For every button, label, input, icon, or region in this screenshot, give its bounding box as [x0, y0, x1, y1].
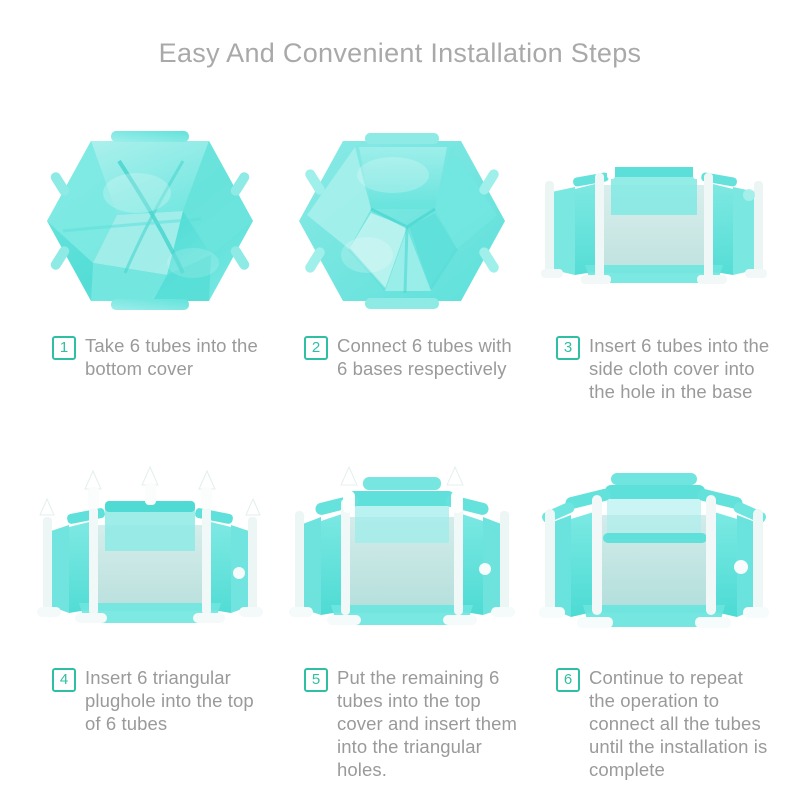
- step-text-4: Insert 6 triangular plughole into the to…: [85, 666, 266, 735]
- step-card-5: 5 Put the remaining 6 tubes into the top…: [276, 454, 528, 784]
- playpen-top-cover-tubes-inserted-icon: [285, 455, 519, 651]
- step-image-6: [528, 454, 780, 652]
- step-caption-2: 2 Connect 6 tubes with 6 bases respectiv…: [276, 320, 528, 380]
- step-number-badge-5: 5: [304, 668, 328, 692]
- playpen-fully-assembled-icon: [537, 455, 771, 651]
- step-number-badge-3: 3: [556, 336, 580, 360]
- step-caption-6: 6 Continue to repeat the operation to co…: [528, 652, 780, 781]
- step-number-badge-1: 1: [52, 336, 76, 360]
- steps-grid: 1 Take 6 tubes into the bottom cover: [24, 122, 780, 784]
- step-text-2: Connect 6 tubes with 6 bases respectivel…: [337, 334, 518, 380]
- step-image-3: [528, 122, 780, 320]
- step-image-1: [24, 122, 276, 320]
- step-text-6: Continue to repeat the operation to conn…: [589, 666, 770, 781]
- step-caption-1: 1 Take 6 tubes into the bottom cover: [24, 320, 276, 380]
- hexagon-bottom-cover-with-tubes-icon: [33, 123, 267, 319]
- hexagon-cover-tubes-connected-to-bases-icon: [285, 123, 519, 319]
- playpen-triangular-plugholes-on-tubes-icon: [33, 455, 267, 651]
- installation-steps-page: Easy And Convenient Installation Steps: [0, 0, 800, 800]
- step-card-6: 6 Continue to repeat the operation to co…: [528, 454, 780, 784]
- step-image-4: [24, 454, 276, 652]
- step-number-badge-2: 2: [304, 336, 328, 360]
- step-text-3: Insert 6 tubes into the side cloth cover…: [589, 334, 770, 403]
- step-number-badge-4: 4: [52, 668, 76, 692]
- step-text-5: Put the remaining 6 tubes into the top c…: [337, 666, 518, 781]
- step-image-5: [276, 454, 528, 652]
- step-text-1: Take 6 tubes into the bottom cover: [85, 334, 266, 380]
- step-card-1: 1 Take 6 tubes into the bottom cover: [24, 122, 276, 452]
- step-caption-5: 5 Put the remaining 6 tubes into the top…: [276, 652, 528, 781]
- page-title: Easy And Convenient Installation Steps: [0, 38, 800, 69]
- step-image-2: [276, 122, 528, 320]
- step-caption-4: 4 Insert 6 triangular plughole into the …: [24, 652, 276, 735]
- playpen-side-cloth-cover-on-tubes-icon: [537, 123, 771, 319]
- step-card-4: 4 Insert 6 triangular plughole into the …: [24, 454, 276, 784]
- step-card-2: 2 Connect 6 tubes with 6 bases respectiv…: [276, 122, 528, 452]
- step-caption-3: 3 Insert 6 tubes into the side cloth cov…: [528, 320, 780, 403]
- step-number-badge-6: 6: [556, 668, 580, 692]
- step-card-3: 3 Insert 6 tubes into the side cloth cov…: [528, 122, 780, 452]
